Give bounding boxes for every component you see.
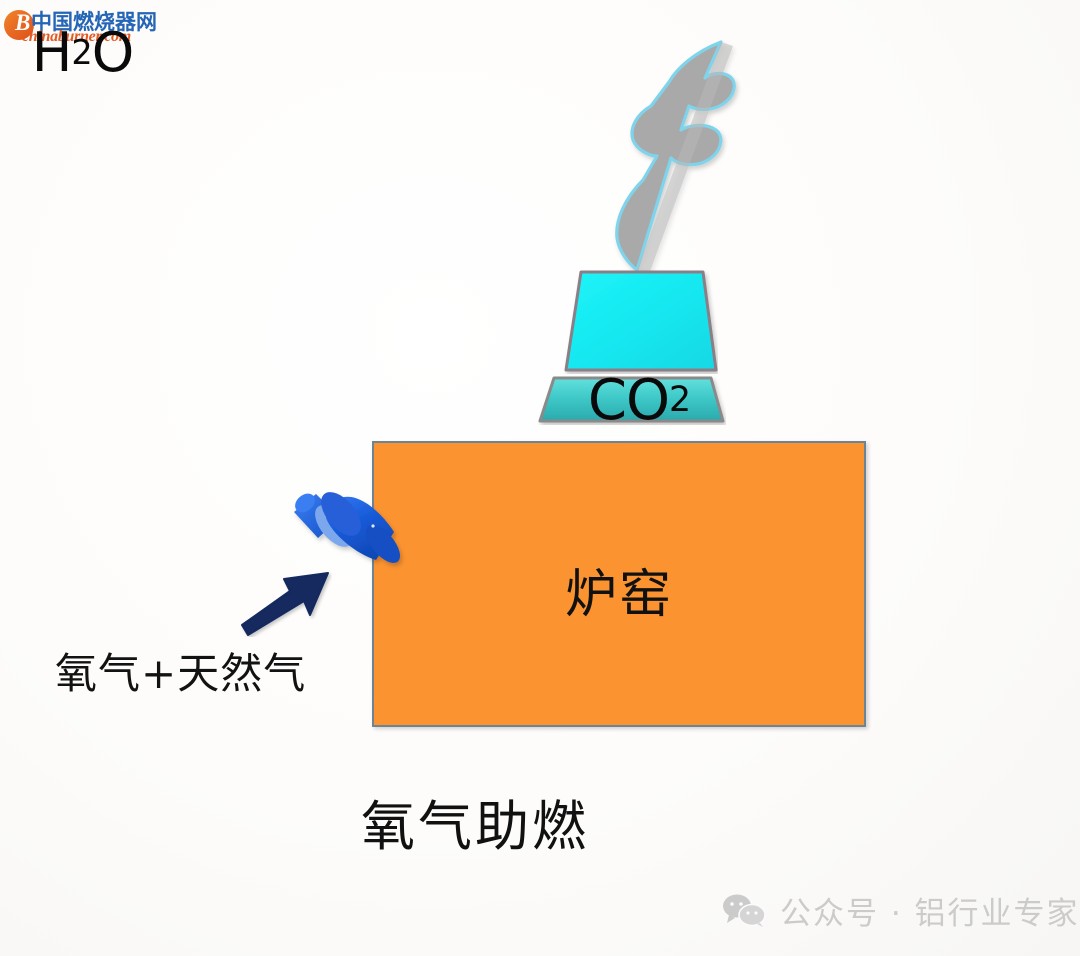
furnace-label: 炉窑 xyxy=(372,552,866,627)
exhaust-smoke-plume xyxy=(585,38,755,278)
fuel-inlet-arrow xyxy=(240,567,332,637)
h2o-subscript: 2 xyxy=(71,33,91,72)
co2-formula: CO xyxy=(588,368,669,433)
figure-caption: 氧气助燃 xyxy=(0,782,1080,861)
gas-inlet-label: 氧气+天然气 xyxy=(55,640,306,701)
wechat-watermark-text: 公众号 · 铝行业专家 xyxy=(780,888,1080,933)
h2o-emission-block xyxy=(553,269,718,374)
h2o-formula: H xyxy=(32,21,72,84)
oxy-fuel-burner xyxy=(288,488,408,572)
wechat-icon xyxy=(722,894,766,928)
co2-subscript: 2 xyxy=(669,380,690,420)
diagram-canvas: B 中国燃烧器网 chinaburner.com xyxy=(0,0,1080,956)
co2-label: CO2 xyxy=(536,375,726,425)
h2o-label: H2O xyxy=(0,0,165,105)
wechat-watermark: 公众号 · 铝行业专家 xyxy=(722,888,1080,933)
h2o-suffix: O xyxy=(92,21,134,84)
